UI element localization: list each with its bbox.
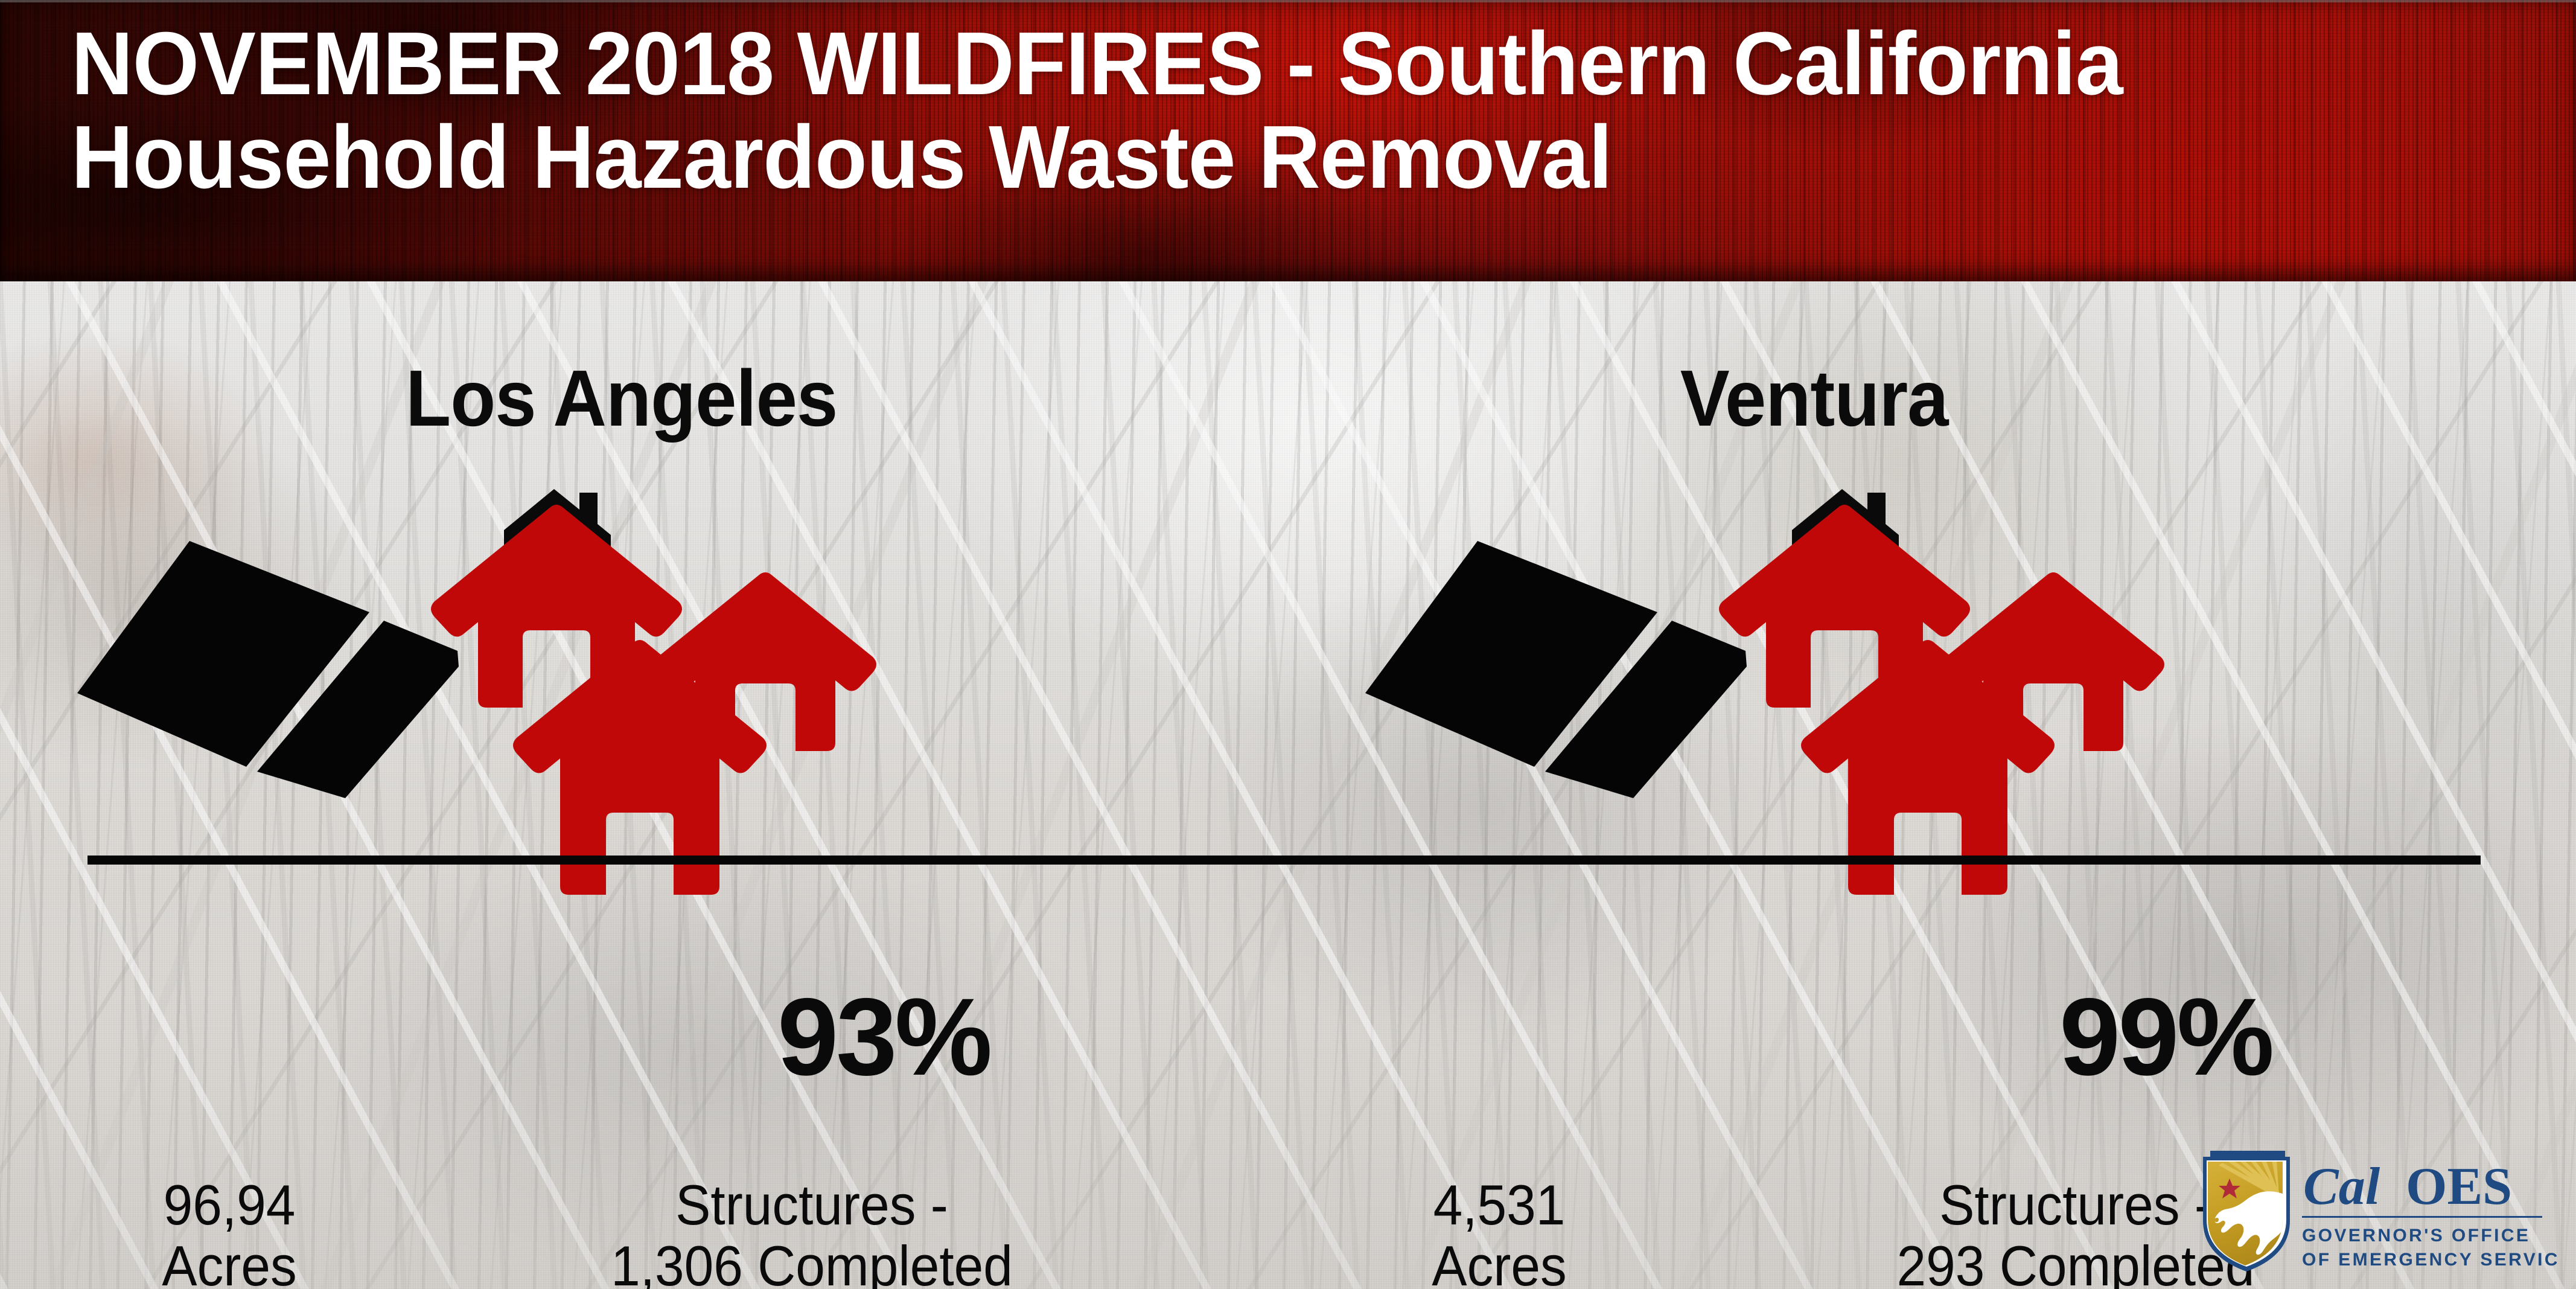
county-name-los-angeles: Los Angeles [22,353,1220,444]
section-divider [88,856,2481,865]
structures-completed-los-angeles: Structures - 1,306 Completed of 1,405 [450,1175,1174,1289]
counties-area: Los Angeles [0,281,2576,1289]
acres-destroyed-ventura: 4,531 Acres Destroyed [1319,1175,1679,1289]
acres-destroyed-los-angeles: 96,94 Acres Destroyed [49,1175,409,1289]
title-banner: NOVEMBER 2018 WILDFIRES - Southern Calif… [0,0,2576,281]
top-edge-hairline [0,0,2576,2]
logo-subtitle-line2: OF EMERGENCY SERVICES [2302,1250,2557,1270]
house-icons-group-ventura [1686,462,2181,921]
logo-subtitle-line1: GOVERNOR'S OFFICE [2302,1226,2530,1246]
logo-wordmark-cal: Cal [2303,1157,2380,1216]
house-icons-group-los-angeles [398,462,893,921]
county-stats-los-angeles: 96,94 Acres Destroyed Structures - 1,306… [0,1175,1288,1289]
county-panel-los-angeles: Los Angeles [0,281,1288,1289]
percent-complete-los-angeles: 93% [777,982,990,1092]
logo-wordmark-oes: OES [2406,1157,2512,1216]
poster-title: NOVEMBER 2018 WILDFIRES - Southern Calif… [71,17,2441,205]
county-panel-ventura: Ventura [1288,281,2576,1289]
percent-complete-ventura: 99% [2059,982,2272,1092]
cal-oes-logo: Cal OES GOVERNOR'S OFFICE OF EMERGENCY S… [2195,1141,2557,1280]
county-name-ventura: Ventura [1215,353,2413,444]
infographic-poster: NOVEMBER 2018 WILDFIRES - Southern Calif… [0,0,2576,1289]
